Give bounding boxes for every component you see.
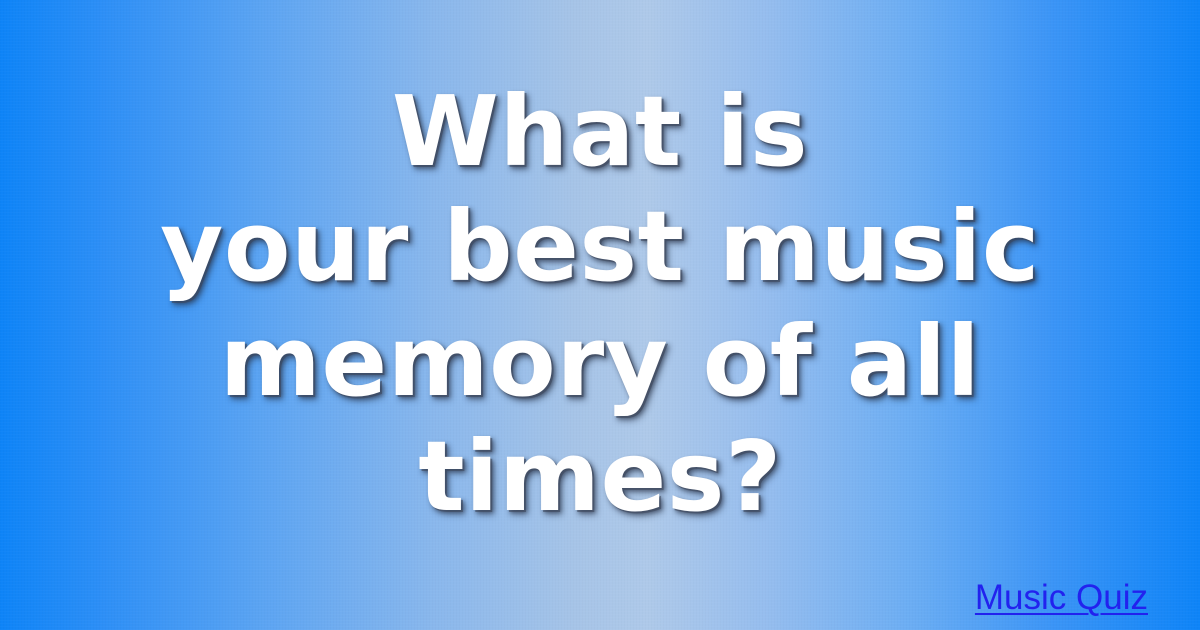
- headline-line-1: What is: [28, 74, 1172, 189]
- footer: Music Quiz: [975, 578, 1148, 618]
- music-quiz-link[interactable]: Music Quiz: [975, 578, 1148, 617]
- headline-line-2: your best music: [28, 189, 1172, 304]
- poster-canvas: What is your best music memory of all ti…: [0, 0, 1200, 630]
- headline-line-4: times?: [28, 419, 1172, 534]
- page-title: What is your best music memory of all ti…: [0, 74, 1200, 534]
- headline-line-3: memory of all: [28, 304, 1172, 419]
